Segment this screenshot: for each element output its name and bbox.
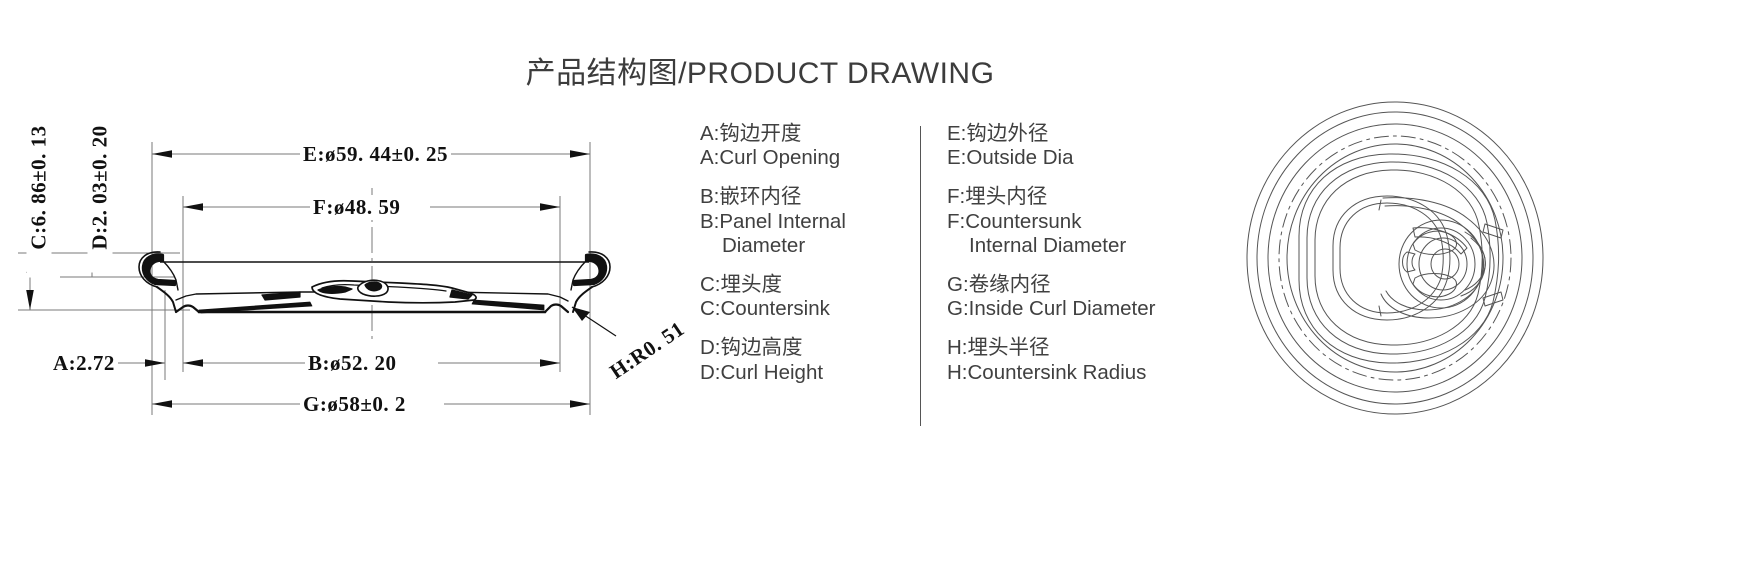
dimension-label-F: F:ø48. 59 bbox=[310, 195, 403, 220]
legend: A:钩边开度 A:Curl Opening B:嵌环内径 B:Panel Int… bbox=[700, 122, 1220, 432]
rivet-outer bbox=[1399, 220, 1483, 308]
legend-entry-b: B:嵌环内径 B:Panel Internal Diameter bbox=[700, 185, 906, 258]
dimension-label-C: C:6. 86±0. 13 bbox=[27, 98, 52, 278]
legend-entry-a: A:钩边开度 A:Curl Opening bbox=[700, 122, 906, 170]
legend-c-en: C:Countersink bbox=[700, 297, 906, 321]
legend-g-en: G:Inside Curl Diameter bbox=[947, 297, 1201, 321]
dimension-label-A: A:2.72 bbox=[50, 351, 118, 376]
legend-entry-c: C:埋头度 C:Countersink bbox=[700, 273, 906, 321]
score-line bbox=[1333, 196, 1450, 320]
can-end-profile bbox=[139, 252, 610, 313]
legend-b-en2: Diameter bbox=[700, 234, 906, 258]
legend-a-en: A:Curl Opening bbox=[700, 146, 906, 170]
legend-f-cn: F:埋头内径 bbox=[947, 185, 1201, 209]
outer-rim bbox=[1247, 102, 1543, 414]
dimension-label-D: D:2. 03±0. 20 bbox=[88, 103, 113, 273]
page-title: 产品结构图/PRODUCT DRAWING bbox=[0, 48, 1520, 92]
dimension-label-G: G:ø58±0. 2 bbox=[300, 392, 409, 417]
legend-d-en: D:Curl Height bbox=[700, 361, 906, 385]
legend-e-en: E:Outside Dia bbox=[947, 146, 1201, 170]
h-leader-line bbox=[572, 307, 616, 336]
tab-outline bbox=[1381, 198, 1494, 318]
legend-entry-f: F:埋头内径 F:Countersunk Internal Diameter bbox=[947, 185, 1201, 258]
panel-contour bbox=[1299, 154, 1499, 363]
dimension-label-B: B:ø52. 20 bbox=[305, 351, 400, 376]
legend-entry-g: G:卷缘内径 G:Inside Curl Diameter bbox=[947, 273, 1201, 321]
legend-h-cn: H:埋头半径 bbox=[947, 336, 1201, 360]
countersink-circle bbox=[1279, 136, 1511, 380]
rivet-center bbox=[1431, 249, 1459, 279]
legend-h-en: H:Countersink Radius bbox=[947, 361, 1201, 385]
legend-d-cn: D:钩边高度 bbox=[700, 336, 906, 360]
legend-e-cn: E:钩边外径 bbox=[947, 122, 1201, 146]
legend-b-en: B:Panel Internal bbox=[700, 210, 906, 234]
legend-g-cn: G:卷缘内径 bbox=[947, 273, 1201, 297]
legend-a-cn: A:钩边开度 bbox=[700, 122, 906, 146]
legend-b-cn: B:嵌环内径 bbox=[700, 185, 906, 209]
legend-entry-d: D:钩边高度 D:Curl Height bbox=[700, 336, 906, 384]
legend-f-en: F:Countersunk bbox=[947, 210, 1201, 234]
legend-right-column: E:钩边外径 E:Outside Dia F:埋头内径 F:Countersun… bbox=[921, 122, 1201, 432]
product-drawing-page: 产品结构图/PRODUCT DRAWING bbox=[0, 0, 1744, 576]
legend-c-cn: C:埋头度 bbox=[700, 273, 906, 297]
legend-entry-e: E:钩边外径 E:Outside Dia bbox=[947, 122, 1201, 170]
dimension-label-E: E:ø59. 44±0. 25 bbox=[300, 142, 451, 167]
legend-left-column: A:钩边开度 A:Curl Opening B:嵌环内径 B:Panel Int… bbox=[700, 122, 920, 432]
legend-f-en2: Internal Diameter bbox=[947, 234, 1201, 258]
legend-entry-h: H:埋头半径 H:Countersink Radius bbox=[947, 336, 1201, 384]
dimension-label-H: H:R0. 51 bbox=[603, 315, 692, 386]
